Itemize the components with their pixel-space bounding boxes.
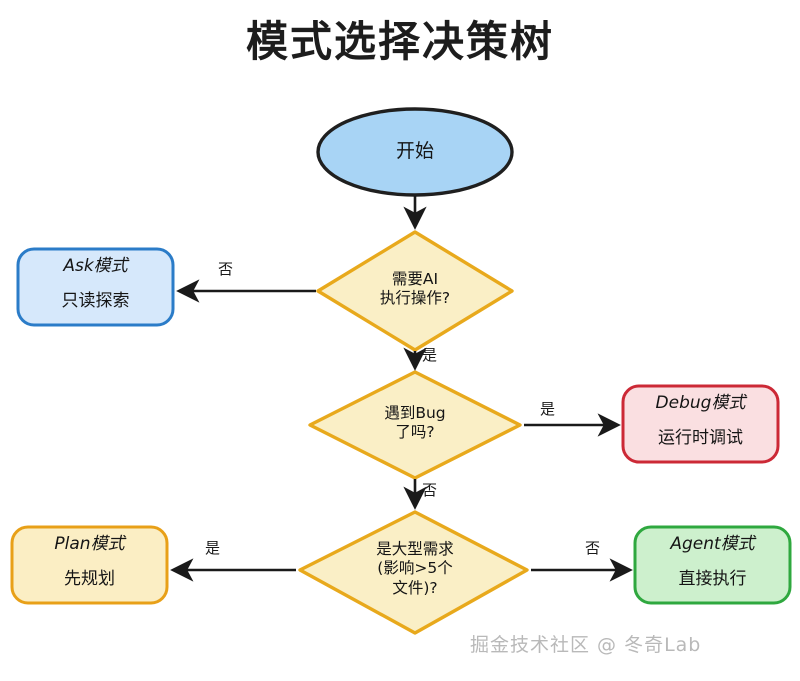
node-decision-bug-shape[interactable] — [310, 372, 520, 478]
node-decision-ai-shape[interactable] — [318, 232, 512, 350]
node-plan-mode-shape[interactable] — [12, 527, 167, 603]
node-decision-large-shape[interactable] — [300, 512, 527, 633]
flowchart-canvas — [0, 0, 800, 681]
edge-label-bug-yes: 是 — [540, 398, 555, 419]
watermark: 掘金技术社区 @ 冬奇Lab — [470, 630, 701, 657]
node-start-shape[interactable] — [318, 109, 512, 195]
edge-label-ai-yes: 是 — [422, 344, 437, 365]
edge-label-bug-no: 否 — [422, 479, 437, 500]
node-debug-mode-shape[interactable] — [623, 386, 778, 462]
edge-label-large-yes: 是 — [205, 537, 220, 558]
node-agent-mode-shape[interactable] — [635, 527, 790, 603]
node-ask-mode-shape[interactable] — [18, 249, 173, 325]
edge-label-large-no: 否 — [585, 537, 600, 558]
edge-label-ai-no: 否 — [218, 258, 233, 279]
